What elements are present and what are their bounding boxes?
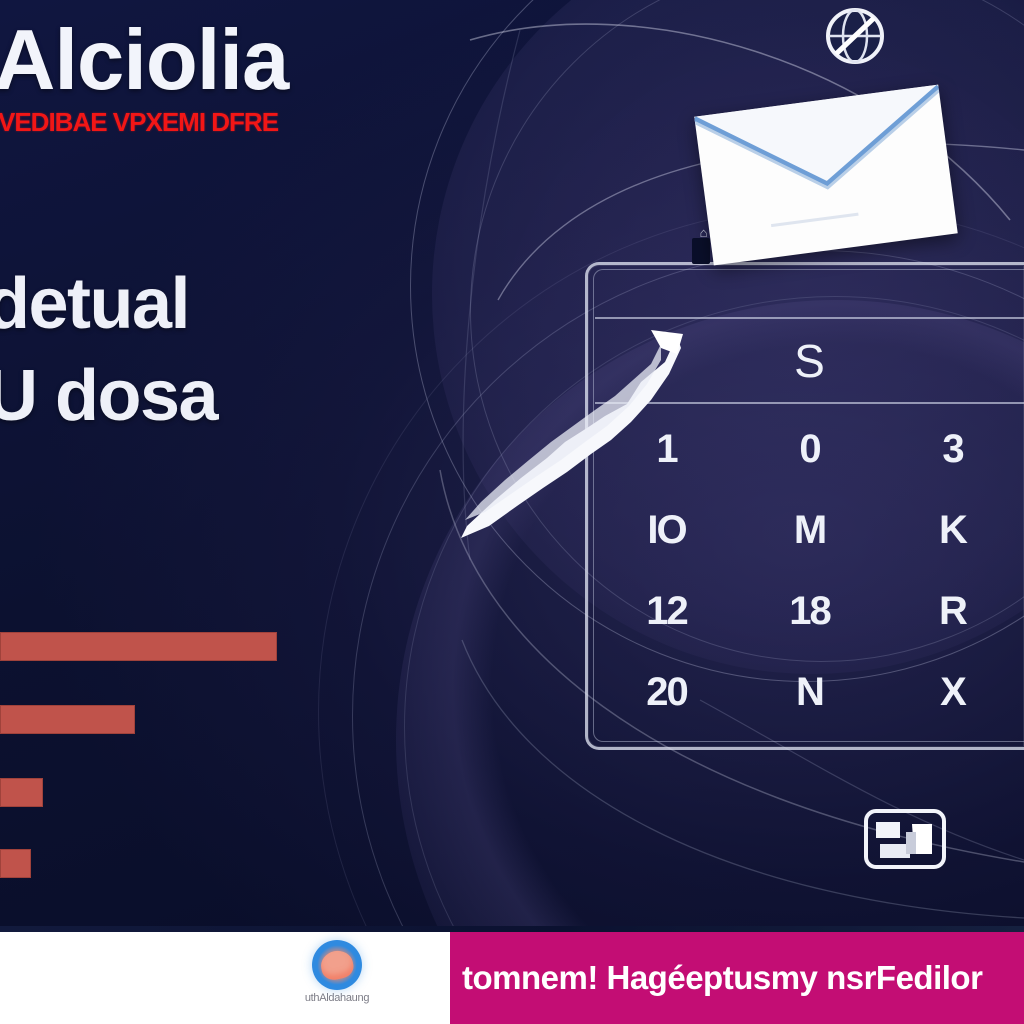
bar-item xyxy=(0,778,43,807)
calendar-cell[interactable]: K xyxy=(881,489,1024,570)
headline-block: Alciolia VEDIBAE VPXEMI DFRE xyxy=(0,18,424,136)
bar-item xyxy=(0,705,135,734)
calendar-cell[interactable]: R xyxy=(881,570,1024,651)
envelope-flap xyxy=(694,85,957,266)
calendar-divider-top xyxy=(595,317,1024,319)
calendar-cell[interactable]: 3 xyxy=(881,408,1024,489)
footer-banner[interactable]: tomnem! Hagéeptusmy nsrFedilor xyxy=(450,932,1024,1024)
footer-bar: uthAldahaung tomnem! Hagéeptusmy nsrFedi… xyxy=(0,932,1024,1024)
subheading-line-1: detual xyxy=(0,258,446,350)
calendar-cell[interactable]: N xyxy=(738,651,881,732)
badge-icon xyxy=(862,806,950,872)
globe-blocked-icon xyxy=(824,7,886,65)
calendar-cell[interactable]: 20 xyxy=(595,651,738,732)
calendar-cell[interactable]: 18 xyxy=(738,570,881,651)
subheading-line-2: U dosa xyxy=(0,350,446,442)
page-title: Alciolia xyxy=(0,18,424,104)
footer-brand-area: uthAldahaung xyxy=(0,932,450,1024)
paper-ribbon-icon xyxy=(455,330,685,545)
bar-item xyxy=(0,632,277,661)
footer-banner-text: tomnem! Hagéeptusmy nsrFedilor xyxy=(462,960,982,996)
screenshot-canvas: Alciolia VEDIBAE VPXEMI DFRE detual U do… xyxy=(0,0,1024,1024)
calendar-cell[interactable]: X xyxy=(881,651,1024,732)
brand-caption: uthAldahaung xyxy=(301,992,373,1005)
subheading-block: detual U dosa xyxy=(0,258,446,442)
brand-block[interactable]: uthAldahaung xyxy=(301,940,373,1005)
brand-logo-icon xyxy=(312,940,362,990)
envelope-icon xyxy=(694,85,957,266)
brand-logo-swirl xyxy=(318,948,355,982)
bar-item xyxy=(0,849,31,878)
calendar-cell[interactable]: M xyxy=(738,489,881,570)
calendar-cell[interactable]: 0 xyxy=(738,408,881,489)
page-subtitle: VEDIBAE VPXEMI DFRE xyxy=(0,108,424,136)
calendar-cell[interactable]: 12 xyxy=(595,570,738,651)
